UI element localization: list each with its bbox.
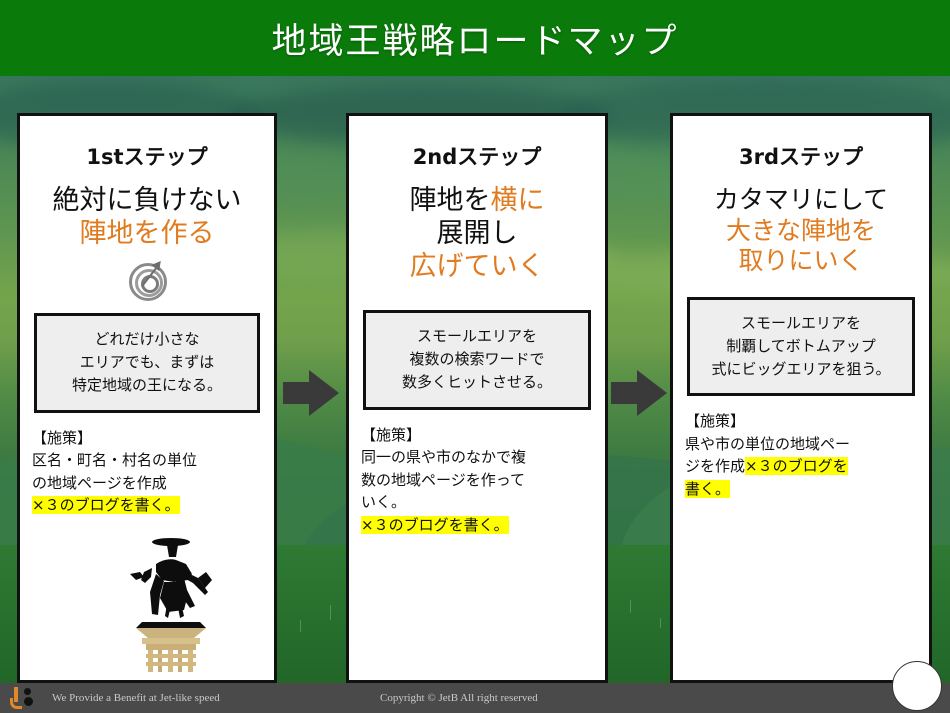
step-label-2: 2ndステップ	[349, 141, 605, 171]
headline-line-accent: 広げていく	[355, 251, 599, 284]
measures-line: ジを作成×３のブログを	[685, 455, 917, 478]
note-line: どれだけ小さな	[43, 328, 251, 351]
note-box-2: スモールエリアを 複数の検索ワードで 数多くヒットさせる。	[363, 310, 591, 410]
headline-line-accent: 陣地を作る	[26, 218, 268, 251]
footer-bar: We Provide a Benefit at Jet-like speed C…	[0, 683, 950, 713]
step-panel-3: 3rdステップ カタマリにして 大きな陣地を 取りにいく スモールエリアを 制覇…	[670, 113, 932, 683]
note-line: 複数の検索ワードで	[372, 348, 582, 371]
step-label-3: 3rdステップ	[673, 141, 929, 171]
decorative-circle	[892, 661, 942, 711]
note-box-1: どれだけ小さな エリアでも、まずは 特定地域の王になる。	[34, 313, 260, 413]
headline-line: カタマリにして	[679, 185, 923, 216]
measures-line-highlighted: ×３のブログを書く。	[361, 514, 593, 537]
step-panel-2: 2ndステップ 陣地を横に 展開し 広げていく スモールエリアを 複数の検索ワー…	[346, 113, 608, 683]
note-line: 式にビッグエリアを狙う。	[696, 358, 906, 381]
measures-2: 【施策】 同一の県や市のなかで複 数の地域ページを作って いく。 ×３のブログを…	[361, 424, 593, 537]
headline-line: 陣地を横に	[355, 185, 599, 218]
note-line: エリアでも、まずは	[43, 351, 251, 374]
note-line: スモールエリアを	[696, 312, 906, 335]
measures-line-highlighted: 書く。	[685, 478, 917, 501]
note-line: 数多くヒットさせる。	[372, 371, 582, 394]
arrow-step2-to-step3	[611, 370, 667, 416]
headline-line: 絶対に負けない	[26, 185, 268, 218]
headline-line-accent: 大きな陣地を	[679, 216, 923, 247]
target-icon	[127, 261, 167, 301]
measures-1: 【施策】 区名・町名・村名の単位 の地域ページを作成 ×３のブログを書く。	[32, 427, 262, 517]
measures-line: 区名・町名・村名の単位	[32, 449, 262, 472]
arrow-step1-to-step2	[283, 370, 339, 416]
headline-2: 陣地を横に 展開し 広げていく	[349, 185, 605, 284]
header-banner: 地域王戦略ロードマップ	[0, 0, 950, 76]
measures-heading: 【施策】	[32, 427, 262, 450]
footer-tagline: We Provide a Benefit at Jet-like speed	[52, 692, 220, 704]
headline-1: 絶対に負けない 陣地を作る	[20, 185, 274, 251]
measures-line: の地域ページを作成	[32, 472, 262, 495]
samurai-rider-on-wooden-tower-illustration	[112, 512, 230, 672]
page-title: 地域王戦略ロードマップ	[271, 13, 678, 64]
measures-heading: 【施策】	[685, 410, 917, 433]
measures-line: いく。	[361, 491, 593, 514]
footer-copyright: Copyright © JetB All right reserved	[380, 692, 538, 704]
measures-heading: 【施策】	[361, 424, 593, 447]
target-icon-wrapper	[20, 261, 274, 301]
jetb-logo-icon	[10, 687, 40, 709]
step-panel-1: 1stステップ 絶対に負けない 陣地を作る どれだけ小さな エリアでも、まずは …	[17, 113, 277, 683]
headline-line: 展開し	[355, 218, 599, 251]
measures-3: 【施策】 県や市の単位の地域ペー ジを作成×３のブログを 書く。	[685, 410, 917, 500]
measures-line: 数の地域ページを作って	[361, 469, 593, 492]
note-line: 特定地域の王になる。	[43, 374, 251, 397]
note-box-3: スモールエリアを 制覇してボトムアップ 式にビッグエリアを狙う。	[687, 297, 915, 397]
note-line: スモールエリアを	[372, 325, 582, 348]
measures-line: 同一の県や市のなかで複	[361, 446, 593, 469]
measures-line: 県や市の単位の地域ペー	[685, 433, 917, 456]
note-line: 制覇してボトムアップ	[696, 335, 906, 358]
headline-line-accent: 取りにいく	[679, 246, 923, 277]
slide-canvas: 地域王戦略ロードマップ 1stステップ 絶対に負けない 陣地を作る どれだけ小さ…	[0, 0, 950, 713]
headline-3: カタマリにして 大きな陣地を 取りにいく	[673, 185, 929, 277]
step-label-1: 1stステップ	[20, 141, 274, 171]
